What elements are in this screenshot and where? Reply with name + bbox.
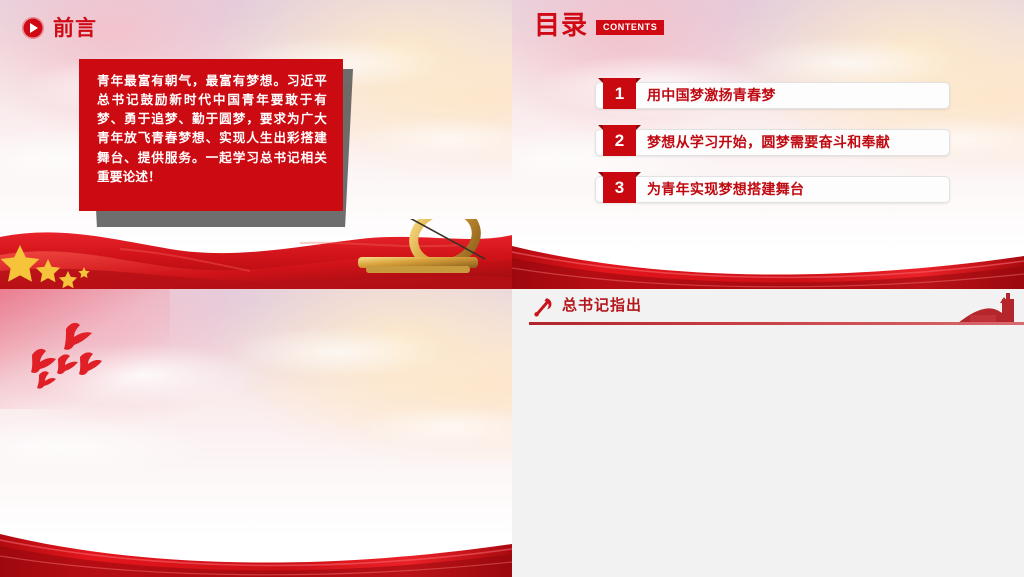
toc-item-label: 用中国梦激扬青春梦 <box>647 83 776 107</box>
table-of-contents: 1 用中国梦激扬青春梦 2 梦想从学习开始，圆梦需要奋斗和奉献 3 为青年实现梦… <box>595 78 950 219</box>
red-swoosh-ribbon <box>512 234 1024 289</box>
page-title: 前言 <box>53 18 97 39</box>
slide-2-contents[interactable]: 目录 CONTENTS 1 用中国梦激扬青春梦 2 梦想从学习开始，圆梦需要奋斗… <box>512 0 1024 289</box>
red-doves-icon <box>14 319 124 399</box>
preface-text-card: 青年最富有朝气，最富有梦想。习近平总书记鼓励新时代中国青年要敢于有梦、勇于追梦、… <box>79 59 343 217</box>
slide-1-header: 前言 <box>22 17 97 39</box>
toc-number-badge: 1 <box>603 78 636 109</box>
red-flag-ribbon <box>0 219 512 289</box>
page-title: 目录 <box>534 12 588 38</box>
slide-2-header: 目录 CONTENTS <box>534 12 664 38</box>
preface-red-box: 青年最富有朝气，最富有梦想。习近平总书记鼓励新时代中国青年要敢于有梦、勇于追梦、… <box>79 59 343 211</box>
red-swoosh-ribbon <box>0 522 512 577</box>
list-item[interactable]: 1 用中国梦激扬青春梦 <box>595 78 950 109</box>
header-divider <box>529 322 1024 325</box>
tiananmen-skyline-icon <box>940 291 1024 323</box>
party-emblem-icon <box>532 296 554 318</box>
contents-badge: CONTENTS <box>596 20 664 35</box>
list-item[interactable]: 2 梦想从学习开始，圆梦需要奋斗和奉献 <box>595 125 950 156</box>
slide-thumbnail-grid: 前言 青年最富有朝气，最富有梦想。习近平总书记鼓励新时代中国青年要敢于有梦、勇于… <box>0 0 1024 577</box>
toc-number-badge: 3 <box>603 172 636 203</box>
slide-4-content[interactable]: 总书记指出 青春总是同梦想相伴 习近平总书记指出，“广大青年要勇敢肩负起时代赋予… <box>512 289 1024 577</box>
slide-1-preface[interactable]: 前言 青年最富有朝气，最富有梦想。习近平总书记鼓励新时代中国青年要敢于有梦、勇于… <box>0 0 512 289</box>
toc-number-badge: 2 <box>603 125 636 156</box>
arrow-right-circle-icon <box>22 17 44 39</box>
slide-3-section-divider[interactable]: 1 用中国梦激扬青春梦 <box>0 289 512 577</box>
preface-body-text: 青年最富有朝气，最富有梦想。习近平总书记鼓励新时代中国青年要敢于有梦、勇于追梦、… <box>97 72 327 187</box>
list-item[interactable]: 3 为青年实现梦想搭建舞台 <box>595 172 950 203</box>
page-title: 总书记指出 <box>562 298 642 313</box>
toc-item-label: 梦想从学习开始，圆梦需要奋斗和奉献 <box>647 130 890 154</box>
toc-item-label: 为青年实现梦想搭建舞台 <box>647 177 804 201</box>
